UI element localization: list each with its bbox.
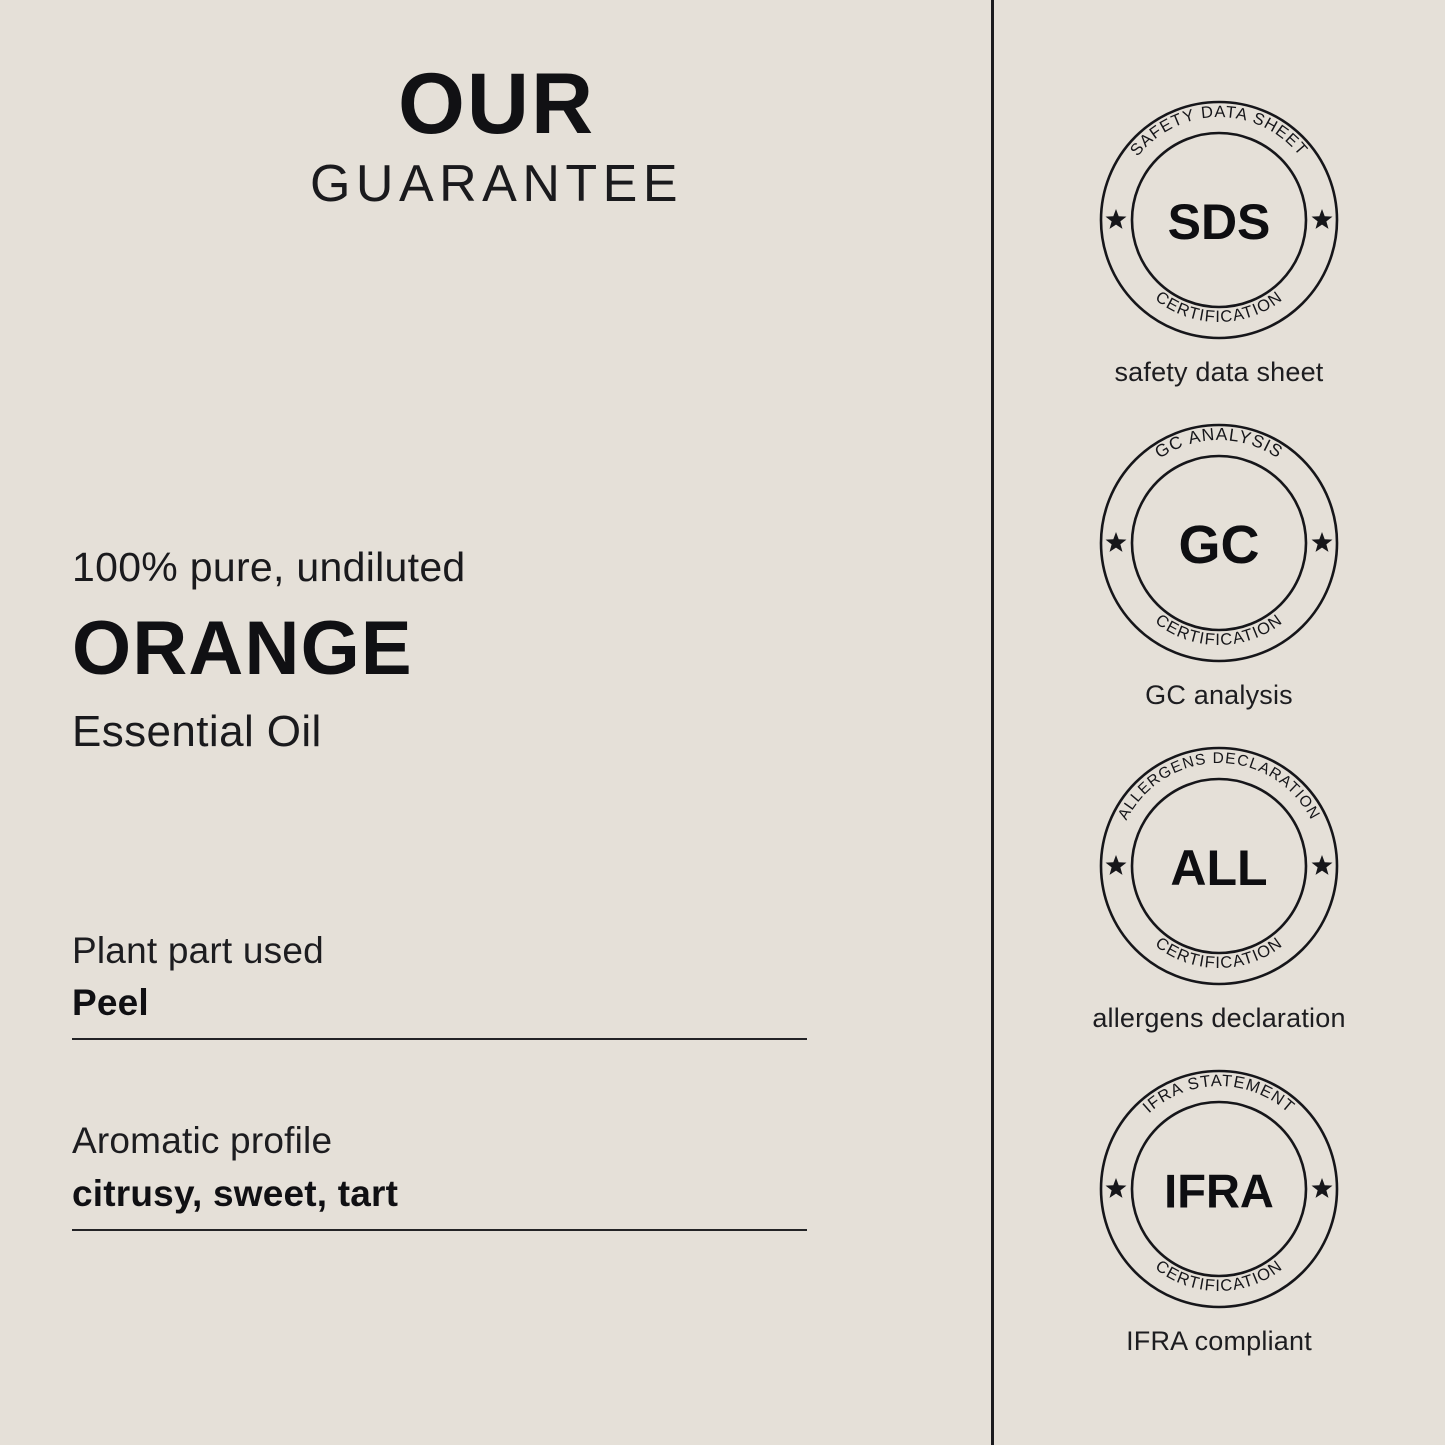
seal-gc: GC ANALYSISCERTIFICATIONGC (1095, 419, 1343, 667)
seal-abbreviation: GC (1179, 515, 1260, 575)
product-purity-text: 100% pure, undiluted (72, 545, 872, 589)
spec-label: Plant part used (72, 928, 807, 974)
star-icon (1312, 1178, 1333, 1198)
star-icon (1312, 209, 1333, 229)
spec-row: Plant part used Peel (72, 928, 807, 1040)
seal-ifra: IFRA STATEMENTCERTIFICATIONIFRA (1095, 1065, 1343, 1313)
right-badge-column: SAFETY DATA SHEETCERTIFICATIONSDSsafety … (993, 0, 1445, 1445)
seal-sds: SAFETY DATA SHEETCERTIFICATIONSDS (1095, 96, 1343, 344)
seal-arc-top-text: ALLERGENS DECLARATION (1115, 750, 1323, 823)
seal-all: ALLERGENS DECLARATIONCERTIFICATIONALL (1095, 742, 1343, 990)
spec-value: Peel (72, 980, 807, 1025)
seal-arc-top-text: IFRA STATEMENT (1140, 1072, 1299, 1117)
star-icon (1312, 532, 1333, 552)
badge-caption: IFRA compliant (1126, 1327, 1312, 1357)
spec-label: Aromatic profile (72, 1118, 807, 1164)
badge-caption: safety data sheet (1114, 358, 1323, 388)
badge-caption: GC analysis (1145, 681, 1293, 711)
product-name: ORANGE (72, 611, 872, 687)
product-type: Essential Oil (72, 709, 872, 755)
certification-badge: IFRA STATEMENTCERTIFICATIONIFRAIFRA comp… (993, 1065, 1445, 1388)
guarantee-infographic: OUR GUARANTEE 100% pure, undiluted ORANG… (0, 0, 1445, 1445)
spec-value: citrusy, sweet, tart (72, 1171, 807, 1216)
star-icon (1106, 532, 1127, 552)
star-icon (1312, 855, 1333, 875)
product-block: 100% pure, undiluted ORANGE Essential Oi… (72, 545, 872, 755)
spec-row: Aromatic profile citrusy, sweet, tart (72, 1118, 807, 1230)
badge-caption: allergens declaration (1092, 1004, 1345, 1034)
certification-badge: ALLERGENS DECLARATIONCERTIFICATIONALLall… (993, 742, 1445, 1065)
left-content-column: OUR GUARANTEE 100% pure, undiluted ORANG… (0, 0, 993, 1445)
star-icon (1106, 1178, 1127, 1198)
page-title-sub: GUARANTEE (0, 158, 993, 210)
certification-badge-list: SAFETY DATA SHEETCERTIFICATIONSDSsafety … (993, 96, 1445, 1388)
certification-badge: SAFETY DATA SHEETCERTIFICATIONSDSsafety … (993, 96, 1445, 419)
seal-abbreviation: SDS (1168, 194, 1271, 250)
page-title-main: OUR (0, 62, 993, 146)
seal-arc-top-text: SAFETY DATA SHEET (1127, 103, 1311, 159)
seal-abbreviation: ALL (1170, 840, 1267, 896)
seal-abbreviation: IFRA (1164, 1165, 1274, 1218)
certification-badge: GC ANALYSISCERTIFICATIONGCGC analysis (993, 419, 1445, 742)
star-icon (1106, 209, 1127, 229)
star-icon (1106, 855, 1127, 875)
spec-list: Plant part used Peel Aromatic profile ci… (72, 928, 807, 1231)
page-title: OUR GUARANTEE (0, 62, 993, 210)
